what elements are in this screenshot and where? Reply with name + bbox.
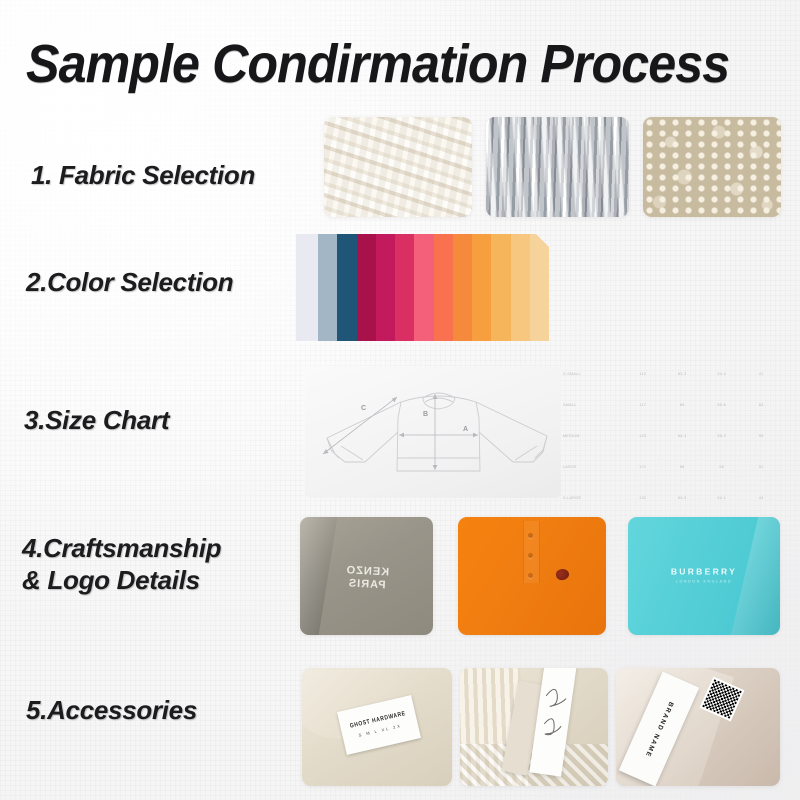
color-swatch-4[interactable] [376,234,395,341]
color-swatch-2[interactable] [337,234,356,341]
table-row: MEDIUM 123 66.1 56.3 90 [555,434,781,438]
step-label-accessories: 5.Accessories [26,695,197,727]
photo-brand-name-qr-tag[interactable]: BRAND NAME [616,668,780,786]
size-chart-table: X-SMALL 112 63.3 54.4 41 SMALL 117 65 55… [555,368,781,504]
size-value: 171 [623,465,663,469]
color-swatch-7[interactable] [434,234,453,341]
table-row: SMALL 117 65 55.6 63 [555,403,781,407]
size-name: MEDIUM [555,434,623,438]
color-swatch-1[interactable] [318,234,337,341]
step-label-fabric-selection: 1. Fabric Selection [31,160,255,192]
size-chart-panel: A B C X-SMALL 112 63.3 54.4 41 SMALL 117… [305,366,780,498]
color-swatch-9[interactable] [472,234,491,341]
photo-turquoise-tee-logo[interactable]: BURBERRY LONDON ENGLAND [628,517,780,635]
kenzo-logo-sub: PARIS [344,577,388,592]
brand-hang-tag-text: BRAND NAME [643,700,674,758]
sweater-technical-drawing: A B C [305,366,561,498]
step-label-color-selection: 2.Color Selection [26,267,233,299]
color-swatch-5[interactable] [395,234,414,341]
size-value: 132 [623,496,663,500]
step-label-size-chart: 3.Size Chart [24,405,169,437]
size-value: 112 [623,372,663,376]
size-value: 69.3 [663,496,703,500]
printed-brand-logo: BURBERRY LONDON ENGLAND [671,566,737,583]
size-value: 41 [742,372,782,376]
size-value: 90 [742,434,782,438]
size-name: X-SMALL [555,372,623,376]
size-name: LARGE [555,465,623,469]
table-row: X-SMALL 112 63.3 54.4 41 [555,372,781,376]
measure-label-b: B [423,411,428,418]
color-swatch-0[interactable] [296,234,318,341]
size-name: X-LARGE [555,496,623,500]
size-value: 63.3 [663,372,703,376]
fabric-swatch-boucle-beige[interactable] [643,117,781,217]
embroidered-logo-icon [555,568,570,581]
size-value: 44 [742,496,782,500]
color-swatch-8[interactable] [453,234,472,341]
size-value: 51 [742,465,782,469]
size-value: 117 [623,403,663,407]
size-name: SMALL [555,403,623,407]
size-value: 65 [663,403,703,407]
color-swatch-11[interactable] [511,234,530,341]
size-value: 56.3 [702,434,742,438]
brand-logo-sub: LONDON ENGLAND [671,579,737,583]
step-label-craftsmanship-logo-details: 4.Craftsmanship & Logo Details [22,533,221,596]
fabric-fold [300,517,337,635]
size-value: 66.1 [663,434,703,438]
brand-logo-main: BURBERRY [671,566,737,576]
page-title: Sample Condirmation Process [26,33,729,95]
size-value: 63 [742,403,782,407]
fabric-swatch-wavy-ribbed-grey[interactable] [486,117,629,217]
table-row: X-LARGE 132 69.3 64.1 44 [555,496,781,500]
size-value: 68 [663,465,703,469]
photo-signature-hang-tags[interactable] [460,668,608,786]
color-palette-strip[interactable] [296,234,549,341]
size-value: 54.4 [702,372,742,376]
measure-label-a: A [463,426,468,433]
color-swatch-6[interactable] [414,234,433,341]
kenzo-logo-text: KENZO PARIS [344,565,389,593]
infographic-page: Sample Condirmation Process 1. Fabric Se… [0,0,800,800]
fabric-swatch-cable-knit-cream[interactable] [324,117,472,217]
color-swatch-12[interactable] [530,234,549,341]
color-swatch-10[interactable] [491,234,510,341]
table-row: LARGE 171 68 58 51 [555,465,781,469]
size-value: 64.1 [702,496,742,500]
photo-orange-polo-embroidery[interactable] [458,517,606,635]
size-value: 55.6 [702,403,742,407]
measure-label-c: C [361,405,366,412]
photo-kenzo-paris-print[interactable]: KENZO PARIS [300,517,433,635]
size-value: 123 [623,434,663,438]
size-value: 58 [702,465,742,469]
color-swatch-3[interactable] [357,234,376,341]
photo-woven-care-label[interactable]: GHOST HARDWARE S M L XL 2X [302,668,452,786]
